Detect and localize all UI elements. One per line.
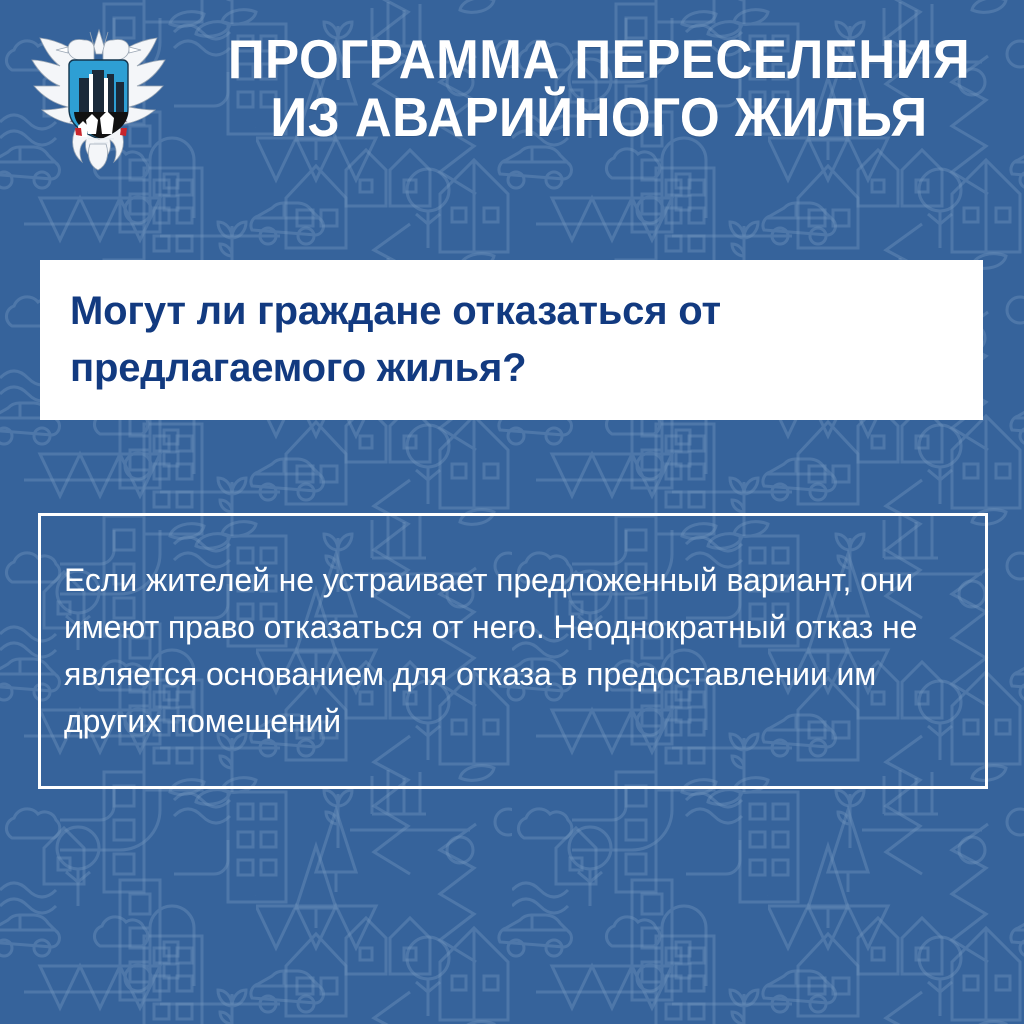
double-headed-eagle-emblem: [16, 16, 181, 176]
title-line-1: ПРОГРАММА ПЕРЕСЕЛЕНИЯ: [224, 30, 974, 88]
question-panel: Могут ли граждане отказаться от предлага…: [40, 260, 983, 420]
poster-title: ПРОГРАММА ПЕРЕСЕЛЕНИЯ ИЗ АВАРИЙНОГО ЖИЛЬ…: [196, 30, 1002, 146]
poster-header: ПРОГРАММА ПЕРЕСЕЛЕНИЯ ИЗ АВАРИЙНОГО ЖИЛЬ…: [0, 0, 1024, 190]
poster-root: ПРОГРАММА ПЕРЕСЕЛЕНИЯ ИЗ АВАРИЙНОГО ЖИЛЬ…: [0, 0, 1024, 1024]
answer-panel: Если жителей не устраивает предложенный …: [38, 513, 988, 789]
title-line-2: ИЗ АВАРИЙНОГО ЖИЛЬЯ: [224, 88, 974, 146]
answer-text: Если жителей не устраивает предложенный …: [41, 557, 985, 745]
question-text: Могут ли граждане отказаться от предлага…: [40, 283, 983, 397]
